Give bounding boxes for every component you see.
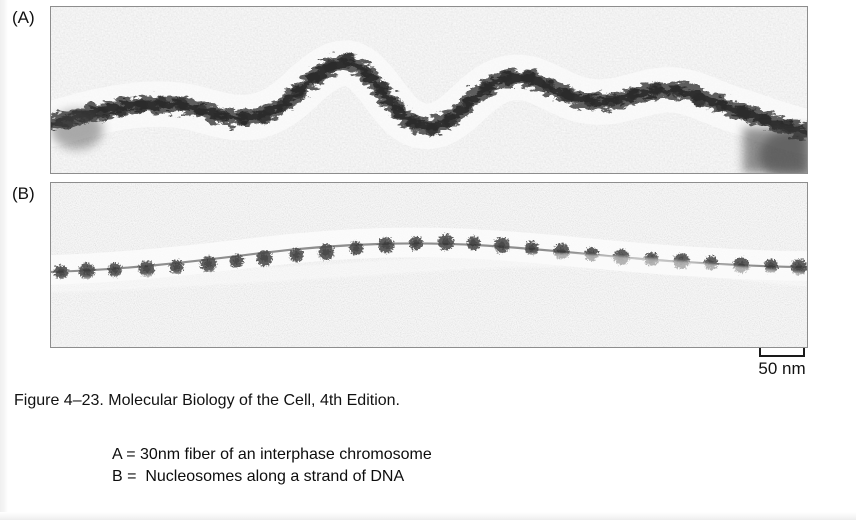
panel-label-a: (A) [12, 8, 35, 27]
legend-line-a: A = 30nm fiber of an interphase chromoso… [112, 444, 432, 466]
figure-legend: A = 30nm fiber of an interphase chromoso… [112, 444, 432, 488]
scale-bar-label: 50 nm [742, 359, 822, 379]
figure-caption: Figure 4–23. Molecular Biology of the Ce… [14, 391, 400, 411]
legend-line-b: B = Nucleosomes along a strand of DNA [112, 466, 432, 488]
micrograph-panel-a [50, 6, 808, 174]
scale-bar-bracket-icon [759, 348, 805, 357]
figure-root: (A) [0, 0, 856, 520]
panel-label-b: (B) [12, 184, 35, 203]
micrograph-panel-b [50, 182, 808, 348]
micrograph-b-image [51, 183, 807, 347]
bottom-edge-strip [0, 512, 856, 520]
scale-bar: 50 nm [742, 348, 822, 379]
micrograph-a-image [51, 7, 807, 173]
